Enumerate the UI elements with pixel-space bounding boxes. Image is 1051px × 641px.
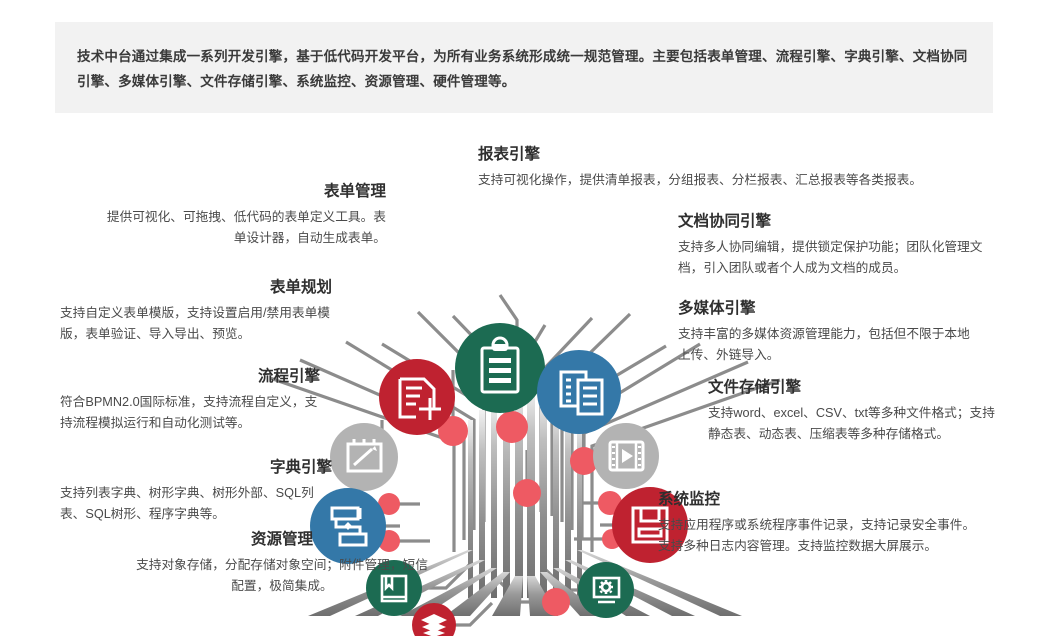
block-body: 符合BPMN2.0国际标准，支持流程自定义，支持流程模拟运行和自动化测试等。 (60, 392, 320, 434)
block-form-planning: 表单规划 支持自定义表单模版，支持设置启用/禁用表单模版，表单验证、导入导出、预… (60, 278, 332, 345)
block-title: 系统监控 (658, 490, 978, 510)
block-body: 支持应用程序或系统程序事件记录，支持记录安全事件。支持多种日志内容管理。支持监控… (658, 515, 978, 557)
summary-banner-text: 技术中台通过集成一系列开发引擎，基于低代码开发平台，为所有业务系统形成统一规范管… (77, 44, 971, 94)
node-multimedia[interactable] (593, 423, 659, 489)
block-dictionary-engine: 字典引擎 支持列表字典、树形字典、树形外部、SQL列表、SQL树形、程序字典等。 (60, 458, 332, 525)
block-report-engine: 报表引擎 支持可视化操作，提供清单报表，分组报表、分栏报表、汇总报表等各类报表。 (478, 145, 998, 191)
block-title: 报表引擎 (478, 145, 998, 165)
block-body: 支持对象存储，分配存储对象空间；附件管理，短信配置，极简集成。 (132, 555, 432, 597)
block-form-management: 表单管理 提供可视化、可拖拽、低代码的表单定义工具。表单设计器，自动生成表单。 (96, 182, 386, 249)
block-body: 支持丰富的多媒体资源管理能力，包括但不限于本地上传、外链导入。 (678, 324, 978, 366)
node-form-planning[interactable] (330, 423, 398, 491)
block-title: 字典引擎 (60, 458, 332, 478)
block-system-monitor: 系统监控 支持应用程序或系统程序事件记录，支持记录安全事件。支持多种日志内容管理… (658, 490, 978, 557)
accent-dot (513, 479, 541, 507)
block-title: 表单管理 (96, 182, 386, 202)
block-title: 文档协同引擎 (678, 212, 988, 232)
block-body: 支持列表字典、树形字典、树形外部、SQL列表、SQL树形、程序字典等。 (60, 483, 332, 525)
block-title: 表单规划 (60, 278, 332, 298)
accent-dot (496, 411, 528, 443)
block-process-engine: 流程引擎 符合BPMN2.0国际标准，支持流程自定义，支持流程模拟运行和自动化测… (60, 367, 320, 434)
block-title: 资源管理 (132, 530, 432, 550)
block-multimedia-engine: 多媒体引擎 支持丰富的多媒体资源管理能力，包括但不限于本地上传、外链导入。 (678, 299, 978, 366)
node-report-engine[interactable] (455, 323, 545, 413)
block-body: 支持自定义表单模版，支持设置启用/禁用表单模版，表单验证、导入导出、预览。 (60, 303, 332, 345)
summary-banner: 技术中台通过集成一系列开发引擎，基于低代码开发平台，为所有业务系统形成统一规范管… (55, 22, 993, 113)
block-file-storage-engine: 文件存储引擎 支持word、excel、CSV、txt等多种文件格式；支持静态表… (708, 378, 998, 445)
block-body: 提供可视化、可拖拽、低代码的表单定义工具。表单设计器，自动生成表单。 (96, 207, 386, 249)
block-body: 支持word、excel、CSV、txt等多种文件格式；支持静态表、动态表、压缩… (708, 403, 998, 445)
block-body: 支持可视化操作，提供清单报表，分组报表、分栏报表、汇总报表等各类报表。 (478, 170, 998, 191)
block-document-collab-engine: 文档协同引擎 支持多人协同编辑，提供锁定保护功能；团队化管理文档，引入团队或者个… (678, 212, 988, 279)
block-title: 流程引擎 (60, 367, 320, 387)
node-document-collab[interactable] (537, 350, 621, 434)
node-system-monitor[interactable] (578, 562, 634, 618)
block-title: 多媒体引擎 (678, 299, 978, 319)
block-body: 支持多人协同编辑，提供锁定保护功能；团队化管理文档，引入团队或者个人成为文档的成… (678, 237, 988, 279)
node-form-management[interactable] (379, 359, 455, 435)
accent-dot (542, 588, 570, 616)
infographic-root: 技术中台通过集成一系列开发引擎，基于低代码开发平台，为所有业务系统形成统一规范管… (0, 0, 1051, 636)
block-title: 文件存储引擎 (708, 378, 998, 398)
block-resource-management: 资源管理 支持对象存储，分配存储对象空间；附件管理，短信配置，极简集成。 (132, 530, 432, 597)
